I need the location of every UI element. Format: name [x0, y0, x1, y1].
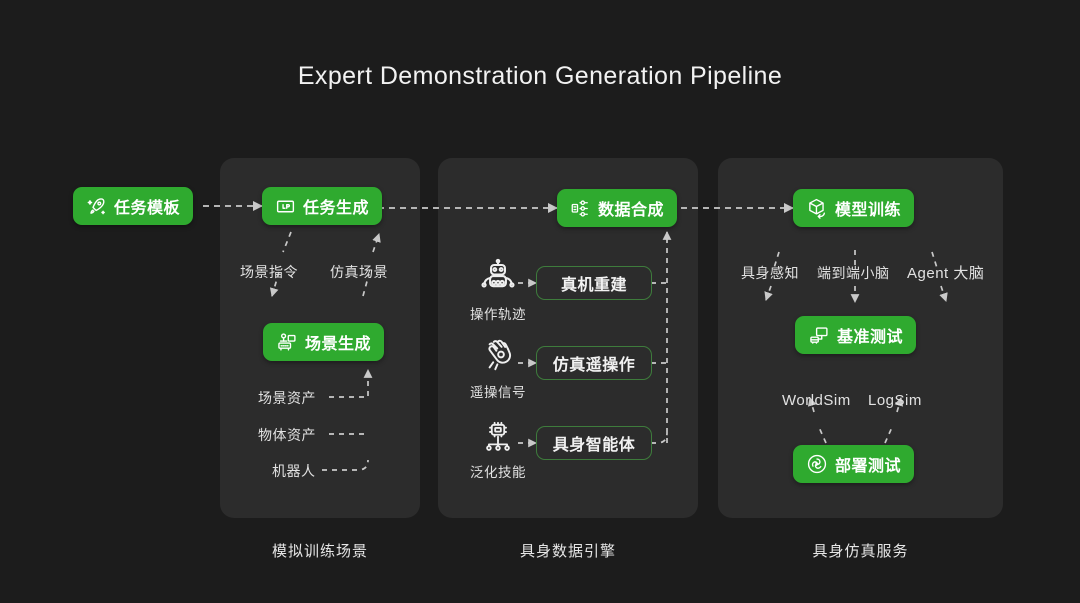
data-sync-icon [570, 198, 591, 219]
node-task-generation[interactable]: 任务生成 [262, 187, 382, 225]
node-label: 数据合成 [598, 196, 664, 220]
source-teleop-signal: 遥操信号 [463, 338, 533, 401]
node-label: 任务生成 [303, 194, 369, 218]
edge-label-embodied-perception: 具身感知 [741, 263, 799, 283]
node-label: 具身智能体 [553, 431, 636, 455]
source-operation-trajectory: 操作轨迹 [463, 258, 533, 323]
panel-caption-embodied-simulation-service: 具身仿真服务 [718, 540, 1003, 561]
rocket-icon [86, 196, 107, 217]
edge-label-end-to-end-cerebellum: 端到端小脑 [817, 263, 890, 283]
edge-label-logsim: LogSim [868, 392, 922, 409]
frame-icon [275, 196, 296, 217]
edge-label-scene-instruction: 场景指令 [240, 262, 298, 282]
diagram-canvas: Expert Demonstration Generation Pipeline [0, 0, 1080, 603]
node-scene-generation[interactable]: 场景生成 [263, 323, 384, 361]
monitor-icon [808, 324, 830, 346]
node-model-training[interactable]: 模型训练 [793, 189, 914, 227]
node-task-template[interactable]: 任务模板 [73, 187, 193, 225]
node-real-machine-reconstruction[interactable]: 真机重建 [536, 266, 652, 300]
node-deployment-test[interactable]: 部署测试 [793, 445, 914, 483]
node-benchmark-test[interactable]: 基准测试 [795, 316, 916, 354]
node-label: 场景生成 [305, 330, 371, 354]
page-title: Expert Demonstration Generation Pipeline [0, 62, 1080, 91]
swirl-circle-icon [806, 453, 828, 475]
node-embodied-agent[interactable]: 具身智能体 [536, 426, 652, 460]
panel-caption-simulation-training-scene: 模拟训练场景 [220, 540, 420, 561]
node-label: 真机重建 [561, 271, 627, 295]
source-label: 操作轨迹 [463, 303, 533, 323]
chip-network-icon [479, 441, 517, 458]
source-label: 遥操信号 [463, 381, 533, 401]
edge-label-agent-brain: Agent 大脑 [907, 262, 984, 283]
edge-label-worldsim: WorldSim [782, 392, 851, 409]
node-label: 任务模板 [114, 194, 180, 218]
node-data-synthesis[interactable]: 数据合成 [557, 189, 677, 227]
node-label: 部署测试 [835, 452, 901, 476]
node-label: 仿真遥操作 [553, 351, 636, 375]
input-label-object-asset: 物体资产 [258, 425, 316, 445]
edge-label-sim-scene: 仿真场景 [330, 262, 388, 282]
source-generalization-skill: 泛化技能 [463, 420, 533, 481]
person-screen-icon [276, 331, 298, 353]
node-simulated-teleoperation[interactable]: 仿真遥操作 [536, 346, 652, 380]
node-label: 基准测试 [837, 323, 903, 347]
panel-caption-embodied-data-engine: 具身数据引擎 [438, 540, 698, 561]
input-label-robot: 机器人 [272, 461, 316, 481]
input-label-scene-asset: 场景资产 [258, 388, 316, 408]
glove-icon [478, 361, 518, 378]
robot-icon [478, 283, 518, 300]
node-label: 模型训练 [835, 196, 901, 220]
cube-arrow-icon [806, 197, 828, 219]
source-label: 泛化技能 [463, 461, 533, 481]
